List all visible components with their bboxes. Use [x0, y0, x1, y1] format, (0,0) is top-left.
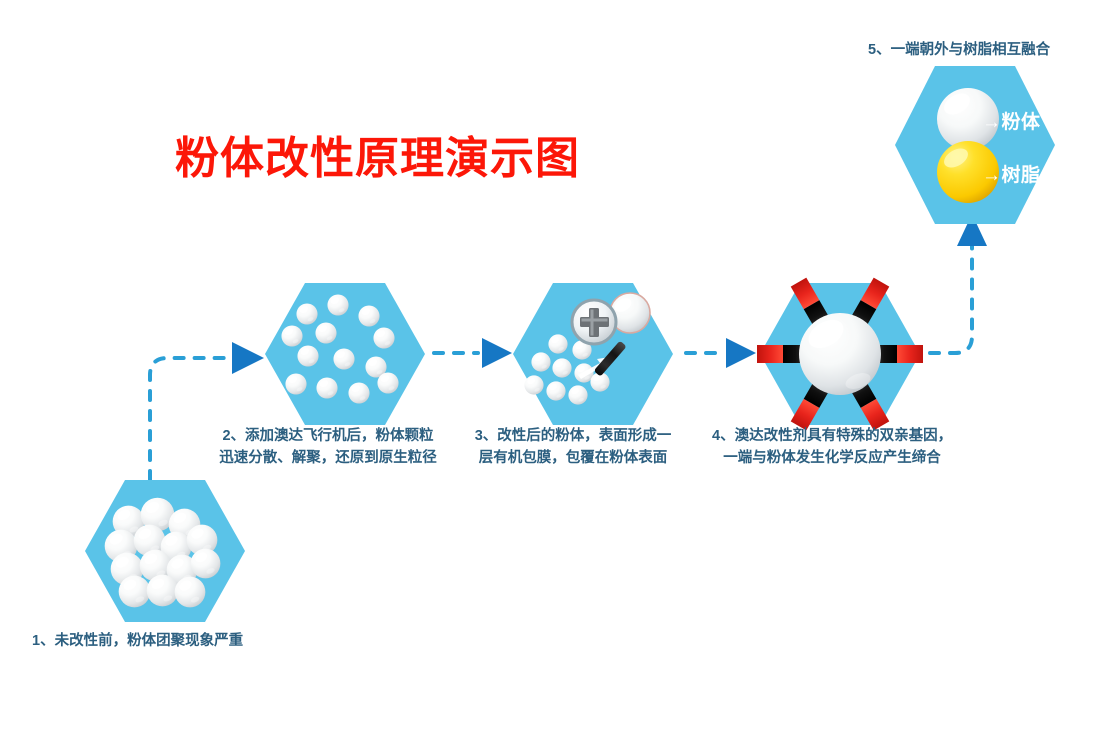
step-2-hexagon[interactable] — [265, 283, 425, 425]
step-5-caption-line-1: 5、一端朝外与树脂相互融合 — [868, 39, 1050, 61]
step-2-caption-line-1: 2、添加澳达飞行机后，粉体颗粒 — [210, 425, 446, 447]
step-5-hexagon[interactable] — [895, 66, 1055, 224]
step-3-caption: 3、改性后的粉体，表面形成一 层有机包膜，包覆在粉体表面 — [462, 425, 684, 469]
connector-3-to-4 — [686, 338, 756, 368]
step-5-caption: 5、一端朝外与树脂相互融合 — [868, 39, 1050, 61]
powder-label: →粉体 — [982, 107, 1041, 134]
step-3-hexagon[interactable] — [513, 283, 673, 425]
step-4-hexagon[interactable] — [757, 278, 923, 431]
diagram-canvas: 粉体改性原理演示图 1、未改性前，粉体团聚现象严重 2、添加澳达飞行机后，粉体颗… — [0, 0, 1100, 750]
step-4-caption-line-1: 4、澳达改性剂具有特殊的双亲基因， — [712, 425, 952, 447]
resin-label: →树脂 — [982, 160, 1041, 187]
step-1-caption: 1、未改性前，粉体团聚现象严重 — [32, 630, 243, 652]
step-3-caption-line-2: 层有机包膜，包覆在粉体表面 — [462, 447, 684, 469]
step-3-caption-line-1: 3、改性后的粉体，表面形成一 — [462, 425, 684, 447]
step-4-core-particle — [799, 313, 881, 395]
connector-2-to-3 — [434, 338, 512, 368]
step-4-caption: 4、澳达改性剂具有特殊的双亲基因， 一端与粉体发生化学反应产生缔合 — [712, 425, 952, 469]
step-1-caption-line-1: 1、未改性前，粉体团聚现象严重 — [32, 630, 243, 652]
step-2-caption-line-2: 迅速分散、解聚，还原到原生粒径 — [210, 447, 446, 469]
page-title: 粉体改性原理演示图 — [175, 134, 580, 185]
step-4-caption-line-2: 一端与粉体发生化学反应产生缔合 — [712, 447, 952, 469]
step-2-caption: 2、添加澳达飞行机后，粉体颗粒 迅速分散、解聚，还原到原生粒径 — [210, 425, 446, 469]
step-1-hexagon[interactable] — [85, 480, 245, 622]
connector-4-to-5 — [930, 214, 987, 353]
